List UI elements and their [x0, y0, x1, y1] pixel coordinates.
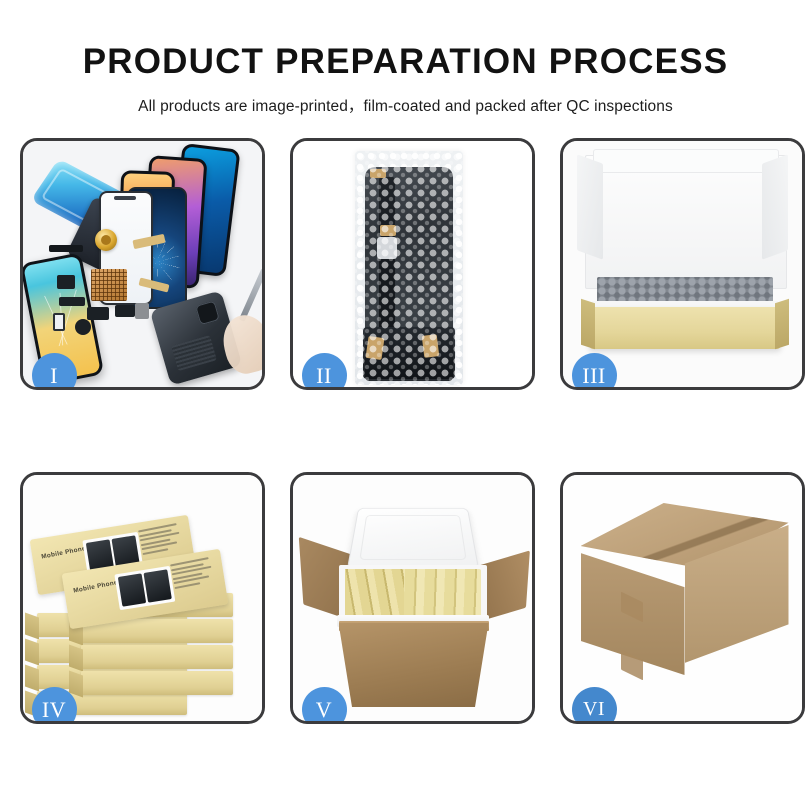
small-component-icon	[115, 305, 135, 317]
step-badge-1: I	[32, 353, 77, 390]
process-step-panel-4[interactable]: Mobile Phone Spare Parts Mobile Phone Sp…	[20, 472, 265, 724]
process-step-panel-5[interactable]: V	[290, 472, 535, 724]
box-lid-top-edge-icon	[593, 149, 779, 173]
step-badge-3: III	[572, 353, 617, 390]
step-1-image	[23, 141, 262, 387]
small-component-icon	[87, 307, 109, 320]
step-4-image: Mobile Phone Spare Parts Mobile Phone Sp…	[23, 475, 262, 721]
box-lid-left-flap-icon	[577, 154, 603, 259]
step-5-image	[293, 475, 532, 721]
process-step-panel-3[interactable]: III	[560, 138, 805, 390]
process-step-panel-6[interactable]: VI	[560, 472, 805, 724]
tape-tab-icon	[370, 169, 386, 178]
step-badge-6: VI	[572, 687, 617, 724]
step-2-image	[293, 141, 532, 387]
small-component-icon	[59, 297, 85, 306]
step-badge-5: V	[302, 687, 347, 724]
box-spec-lines	[138, 522, 186, 555]
step-3-image	[563, 141, 802, 387]
page-header: PRODUCT PREPARATION PROCESS All products…	[0, 0, 811, 116]
box-lid-right-flap-icon	[762, 154, 788, 259]
battery-connector-icon	[135, 303, 149, 319]
step-6-image	[563, 475, 802, 721]
tape-tab-icon	[365, 336, 384, 360]
process-step-grid: I II III	[6, 138, 806, 724]
process-step-panel-2[interactable]: II	[290, 138, 535, 390]
foam-lid-icon	[346, 508, 478, 570]
tape-tab-icon	[421, 334, 439, 358]
step-badge-4: IV	[32, 687, 77, 724]
gold-coil-part-icon	[95, 229, 117, 251]
page-title: PRODUCT PREPARATION PROCESS	[0, 44, 811, 79]
copper-mesh-chip-icon	[91, 269, 127, 301]
box-spec-lines	[170, 556, 218, 589]
small-component-icon	[57, 275, 75, 289]
tweezers-icon	[238, 268, 261, 322]
process-step-panel-1[interactable]: I	[20, 138, 265, 390]
box-product-window	[114, 566, 175, 610]
step-badge-2: II	[302, 353, 347, 390]
sim-tray-part-icon	[53, 313, 65, 331]
earpiece-speaker-part-icon	[49, 245, 83, 252]
vibration-motor-icon	[75, 319, 91, 335]
kraft-box-tray-icon	[589, 307, 781, 349]
box-lid-back-icon	[585, 155, 787, 289]
page-subtitle: All products are image-printed，film-coat…	[0, 94, 811, 116]
packed-yellow-boxes-icon	[345, 569, 481, 617]
screen-connector-icon	[377, 237, 397, 259]
carton-body-icon	[339, 623, 489, 707]
tape-tab-icon	[380, 225, 396, 236]
